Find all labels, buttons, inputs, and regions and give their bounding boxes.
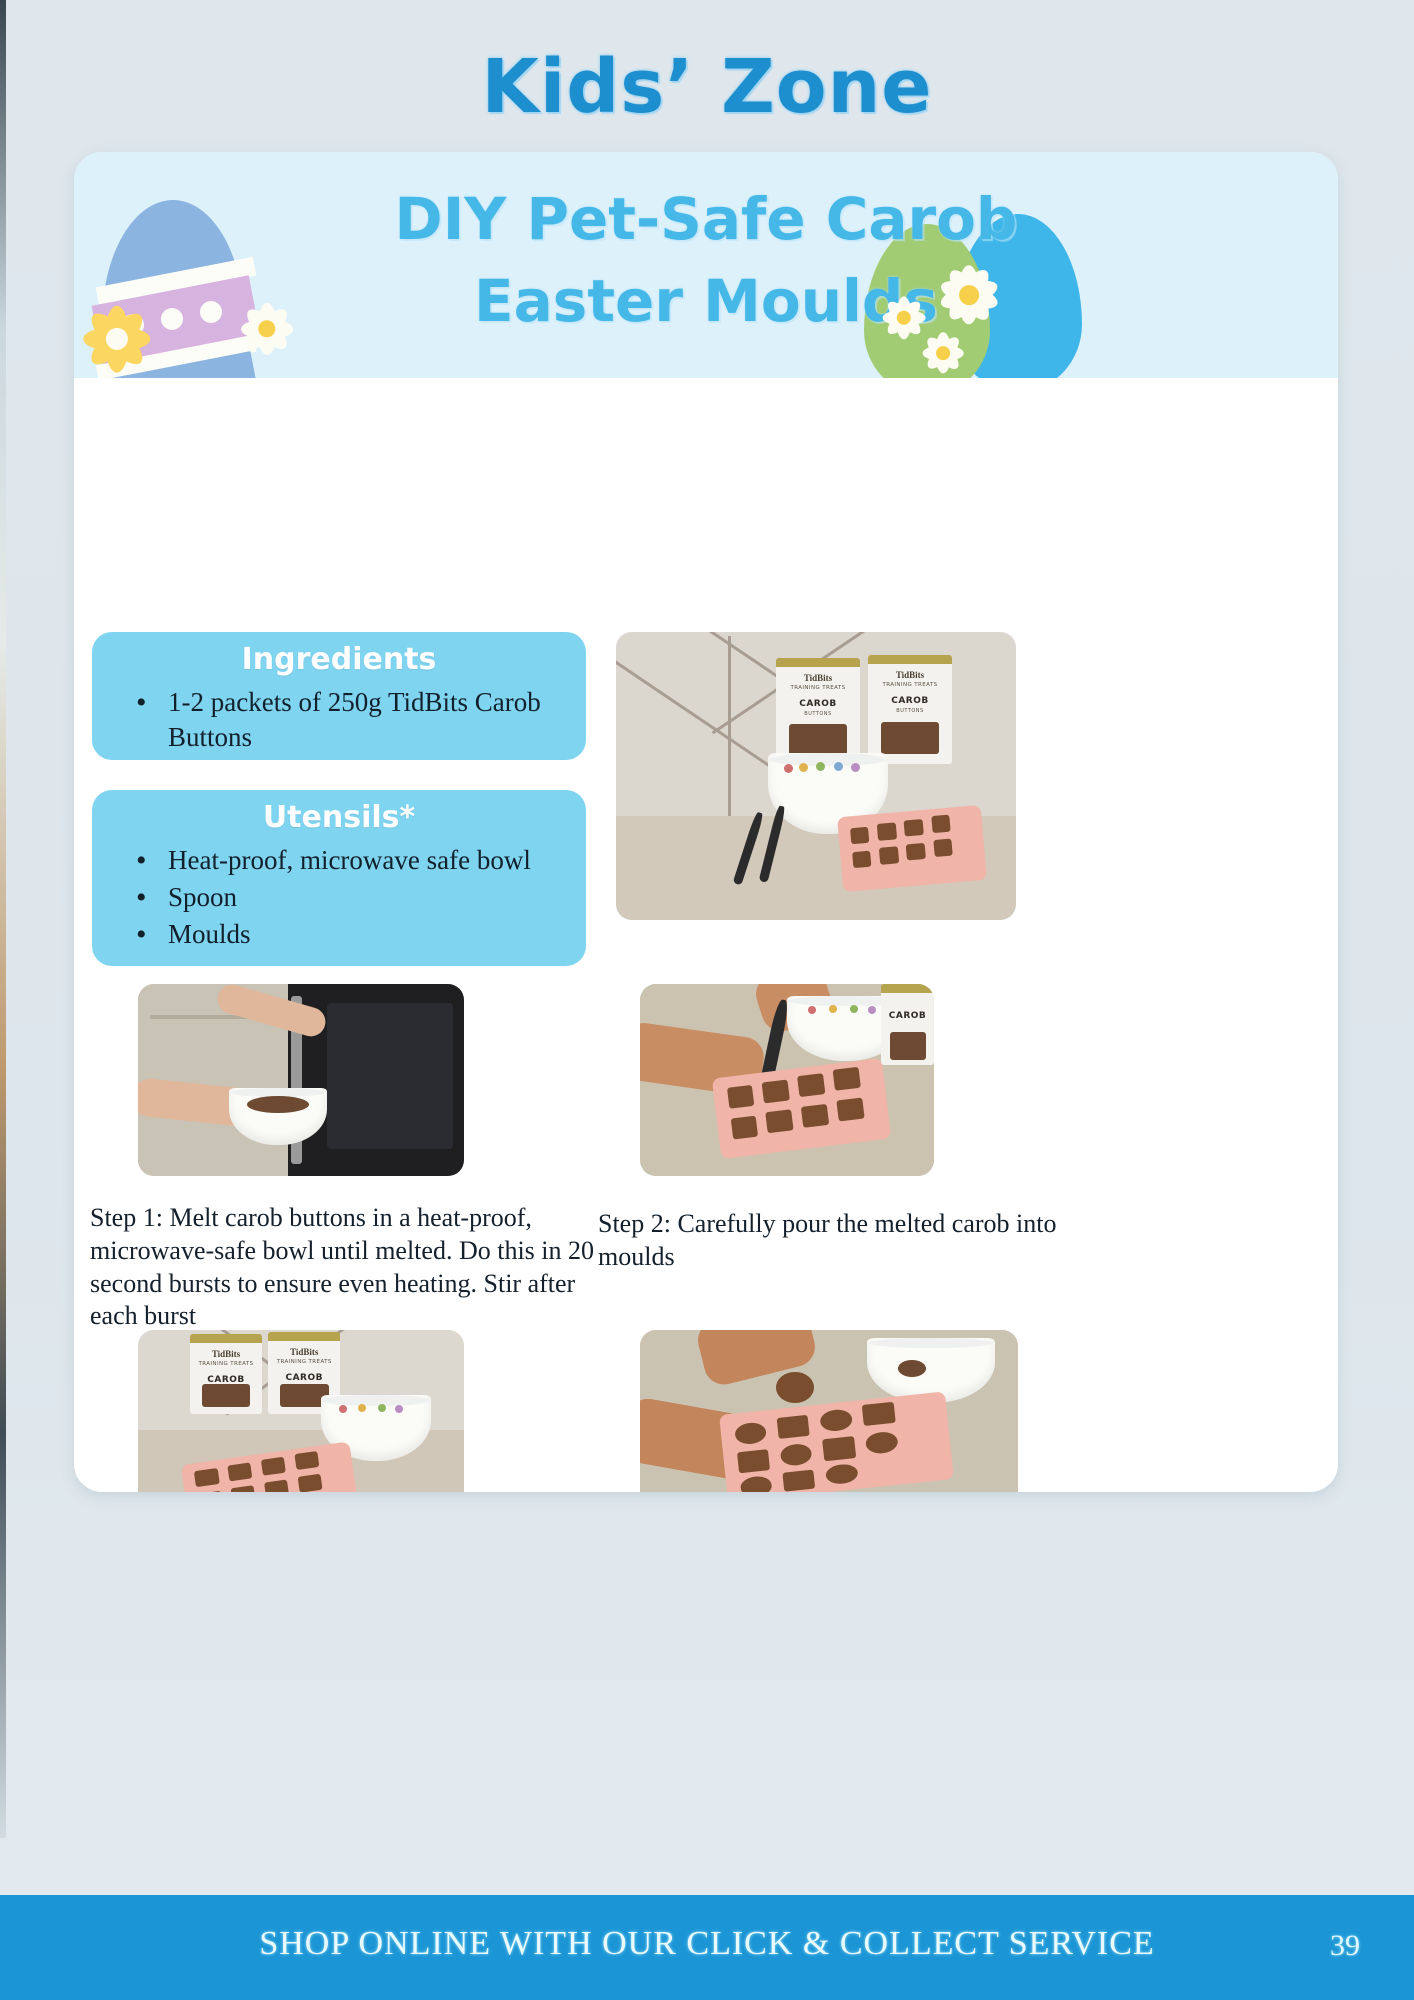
package-name: CAROB — [190, 1375, 262, 1385]
package-subtitle: TRAINING TREATS — [268, 1359, 340, 1365]
step-4-photo — [640, 1330, 1018, 1492]
package-brand: TidBits — [268, 1347, 340, 1357]
list-item: Heat-proof, microwave safe bowl — [136, 843, 586, 878]
daisy-white-large-icon — [936, 262, 1002, 328]
catalogue-page: Kids’ Zone — [0, 0, 1414, 2000]
package-name: CAROB — [776, 699, 860, 709]
page-edge-strip — [0, 0, 6, 1838]
package-brand: TidBits — [776, 673, 860, 683]
package-name-2: BUTTONS — [776, 711, 860, 717]
product-package: CAROB — [881, 984, 934, 1065]
step-3-photo: TidBits TRAINING TREATS CAROB BUTTONS Ti… — [138, 1330, 464, 1492]
daisy-white-bottom-icon — [920, 330, 966, 376]
list-item: Spoon — [136, 880, 586, 915]
product-package: TidBits TRAINING TREATS CAROB BUTTONS — [868, 655, 952, 764]
package-brand: TidBits — [868, 670, 952, 680]
daisy-yellow-icon — [80, 302, 154, 376]
utensils-list: Heat-proof, microwave safe bowl Spoon Mo… — [136, 843, 586, 952]
package-name-2: BUTTONS — [868, 708, 952, 714]
recipe-title-line-1: DIY Pet-Safe Carob — [74, 178, 1338, 260]
recipe-banner: DIY Pet-Safe Carob Easter Moulds — [74, 152, 1338, 378]
carob-shape — [776, 1372, 814, 1403]
hero-photo: TidBits TRAINING TREATS CAROB BUTTONS Ti… — [616, 632, 1016, 920]
package-subtitle: TRAINING TREATS — [868, 682, 952, 688]
utensils-box: Utensils* Heat-proof, microwave safe bow… — [92, 790, 586, 966]
footer-bar: SHOP ONLINE WITH OUR CLICK & COLLECT SER… — [0, 1895, 1414, 2000]
package-brand: TidBits — [190, 1349, 262, 1359]
package-subtitle: TRAINING TREATS — [190, 1361, 262, 1367]
step-2-photo: CAROB — [640, 984, 934, 1176]
package-name: CAROB — [881, 1011, 934, 1021]
step-1-photo — [138, 984, 464, 1176]
product-package: TidBits TRAINING TREATS CAROB BUTTONS — [190, 1334, 262, 1415]
ingredients-list: 1-2 packets of 250g TidBits Carob Button… — [136, 685, 586, 755]
silicone-mould — [837, 804, 987, 891]
package-name: CAROB — [268, 1373, 340, 1383]
list-item: 1-2 packets of 250g TidBits Carob Button… — [136, 685, 586, 755]
page-number: 39 — [1330, 1929, 1360, 1963]
list-item: Moulds — [136, 917, 586, 952]
daisy-white-icon — [238, 300, 296, 358]
product-package: TidBits TRAINING TREATS CAROB BUTTONS — [776, 658, 860, 765]
page-title: Kids’ Zone — [0, 44, 1414, 130]
ingredients-box: Ingredients 1-2 packets of 250g TidBits … — [92, 632, 586, 760]
step-2-caption: Step 2: Carefully pour the melted carob … — [598, 1208, 1068, 1274]
package-name: CAROB — [868, 696, 952, 706]
utensils-heading: Utensils* — [92, 790, 586, 835]
package-subtitle: TRAINING TREATS — [776, 685, 860, 691]
step-1-caption: Step 1: Melt carob buttons in a heat-pro… — [90, 1202, 600, 1333]
footer-message: SHOP ONLINE WITH OUR CLICK & COLLECT SER… — [0, 1925, 1414, 1963]
ingredients-heading: Ingredients — [92, 632, 586, 677]
recipe-card: DIY Pet-Safe Carob Easter Moulds Ingredi… — [74, 152, 1338, 1492]
